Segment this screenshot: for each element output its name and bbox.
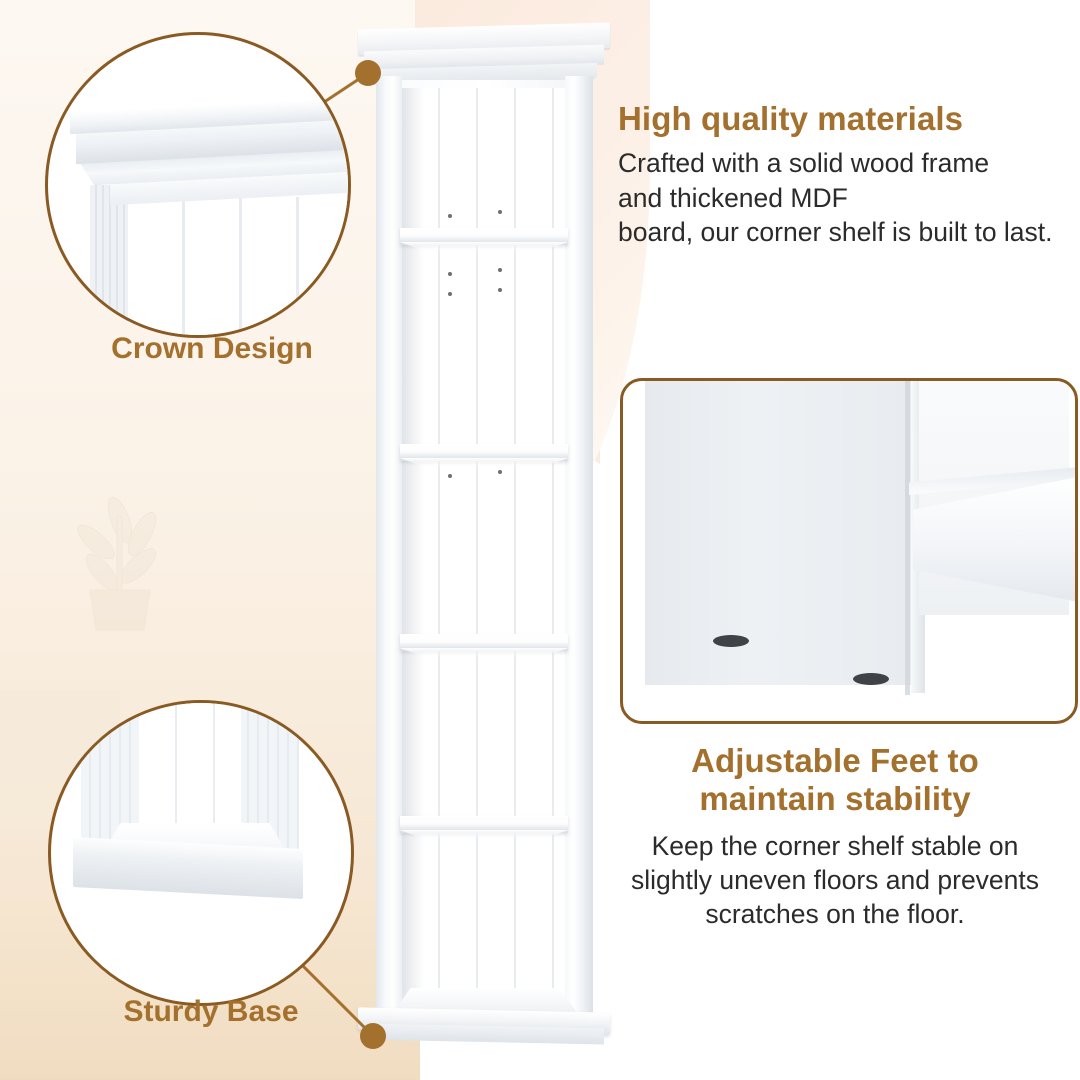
feature-body-line: scratches on the floor.: [600, 897, 1070, 931]
feature-heading-materials: High quality materials: [618, 100, 1080, 138]
callout-adjustable-feet: [620, 378, 1078, 724]
feature-heading-line: Adjustable Feet to: [691, 742, 979, 779]
callout-label-sturdy-base: Sturdy Base: [86, 995, 336, 1029]
feature-body-line: slightly uneven floors and prevents: [600, 863, 1070, 897]
feature-heading-line: maintain stability: [600, 780, 1070, 818]
product-shelf: [400, 228, 568, 245]
connector-dot-crown: [355, 60, 381, 86]
callout-sturdy-base: [48, 700, 354, 1006]
feature-heading-feet: Adjustable Feet to maintain stability: [600, 742, 1070, 819]
product-shelf: [400, 444, 568, 461]
shelf-peg-hole: [448, 214, 452, 218]
feature-body-line: Crafted with a solid wood frame: [618, 146, 1080, 180]
crown-beadboard-panel: [128, 197, 350, 338]
base-back-panel: [139, 703, 241, 833]
product-beadboard-back: [402, 88, 565, 1008]
shelf-peg-hole: [448, 474, 452, 478]
crown-fluted-pilaster: [90, 185, 128, 338]
feet-cabinet-side-panel: [645, 378, 913, 685]
base-plinth-molding: [73, 837, 303, 899]
shelf-peg-hole: [498, 470, 502, 474]
feature-block-feet: Adjustable Feet to maintain stability Ke…: [600, 742, 1070, 932]
callout-label-crown-design: Crown Design: [82, 332, 342, 366]
product-shelf: [400, 634, 568, 651]
feet-panel-gap: [905, 378, 910, 695]
feature-body-line: board, our corner shelf is built to last…: [618, 215, 1080, 249]
product-shelf: [400, 816, 568, 833]
feature-body-feet: Keep the corner shelf stable on slightly…: [600, 829, 1070, 932]
feature-body-line: and thickened MDF: [618, 181, 1080, 215]
adjustable-foot-icon: [713, 635, 749, 647]
product-inner-shadow: [402, 88, 424, 1008]
infographic-canvas: Crown Design Sturdy Base High quality ma…: [0, 0, 1080, 1080]
feature-body-line: Keep the corner shelf stable on: [600, 829, 1070, 863]
feature-block-materials: High quality materials Crafted with a so…: [618, 100, 1080, 250]
product-right-fluted-post: [565, 76, 593, 1014]
connector-dot-base: [360, 1023, 386, 1049]
product-corner-shelf: [352, 26, 618, 1061]
shelf-peg-hole: [498, 210, 502, 214]
shelf-peg-hole: [448, 292, 452, 296]
adjustable-foot-icon: [853, 673, 889, 685]
shelf-peg-hole: [498, 288, 502, 292]
product-left-fluted-post: [376, 76, 402, 1016]
feature-body-materials: Crafted with a solid wood frame and thic…: [618, 146, 1080, 249]
callout-crown-design: [45, 32, 351, 338]
shelf-peg-hole: [498, 268, 502, 272]
shelf-peg-hole: [448, 272, 452, 276]
